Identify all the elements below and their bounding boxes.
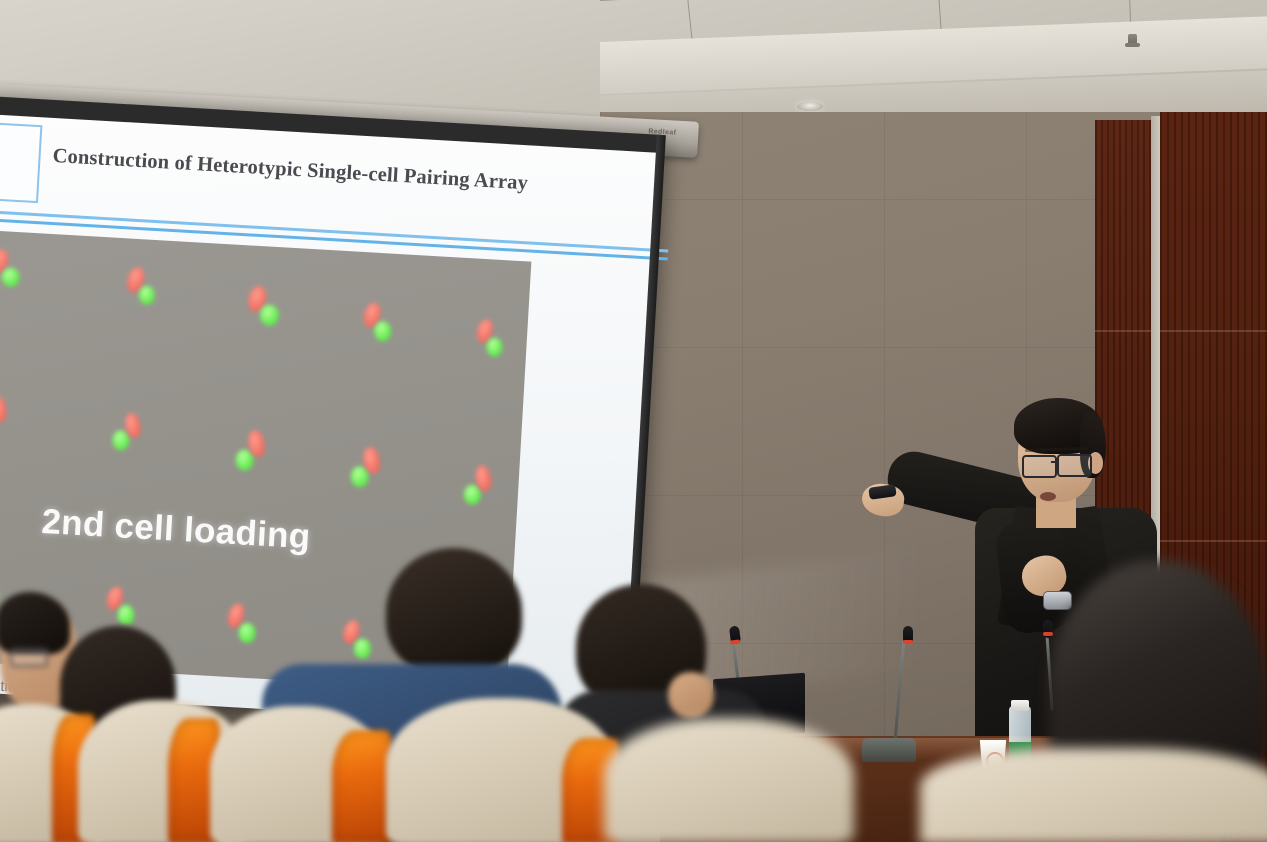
auditorium-seat	[920, 748, 1267, 842]
glasses-icon	[10, 648, 48, 667]
cell-green	[238, 622, 256, 643]
seat-wood-panel	[332, 730, 392, 842]
cell-green	[117, 604, 135, 625]
audience-member-hand	[668, 672, 714, 718]
glasses-bridge	[1051, 461, 1059, 463]
cell-green	[374, 321, 392, 342]
bottle-cap	[1011, 700, 1029, 711]
cell-green	[1, 267, 20, 287]
cell-green	[486, 337, 503, 357]
cell-green	[138, 285, 155, 305]
slide-overlay-label: 2nd cell loading	[40, 502, 311, 557]
slide-title: Construction of Heterotypic Single-cell …	[52, 144, 613, 202]
glasses-icon	[1022, 455, 1057, 478]
microphone-base	[862, 738, 916, 762]
speaker-mouth	[1040, 492, 1056, 501]
cell-green	[259, 304, 279, 326]
ceiling-downlight	[797, 102, 823, 111]
cell-green	[353, 638, 371, 659]
audience-member-head	[386, 548, 522, 676]
presentation-photo-scene: Redleaf on n 3 Construction of Heterotyp…	[0, 0, 1267, 842]
auditorium-seat	[604, 718, 854, 842]
glasses-icon	[1057, 454, 1092, 477]
microphone-indicator	[903, 640, 913, 644]
speaker-wristwatch	[1043, 591, 1072, 610]
cell-red	[0, 394, 8, 424]
microphone-indicator	[1043, 632, 1053, 636]
sprinkler-icon	[1128, 34, 1137, 47]
wood-panel-seam	[1160, 330, 1267, 332]
slide-section-tag: on n 3	[0, 118, 42, 203]
wood-panel-seam	[1095, 330, 1151, 332]
wood-panel-seam	[1160, 540, 1267, 542]
